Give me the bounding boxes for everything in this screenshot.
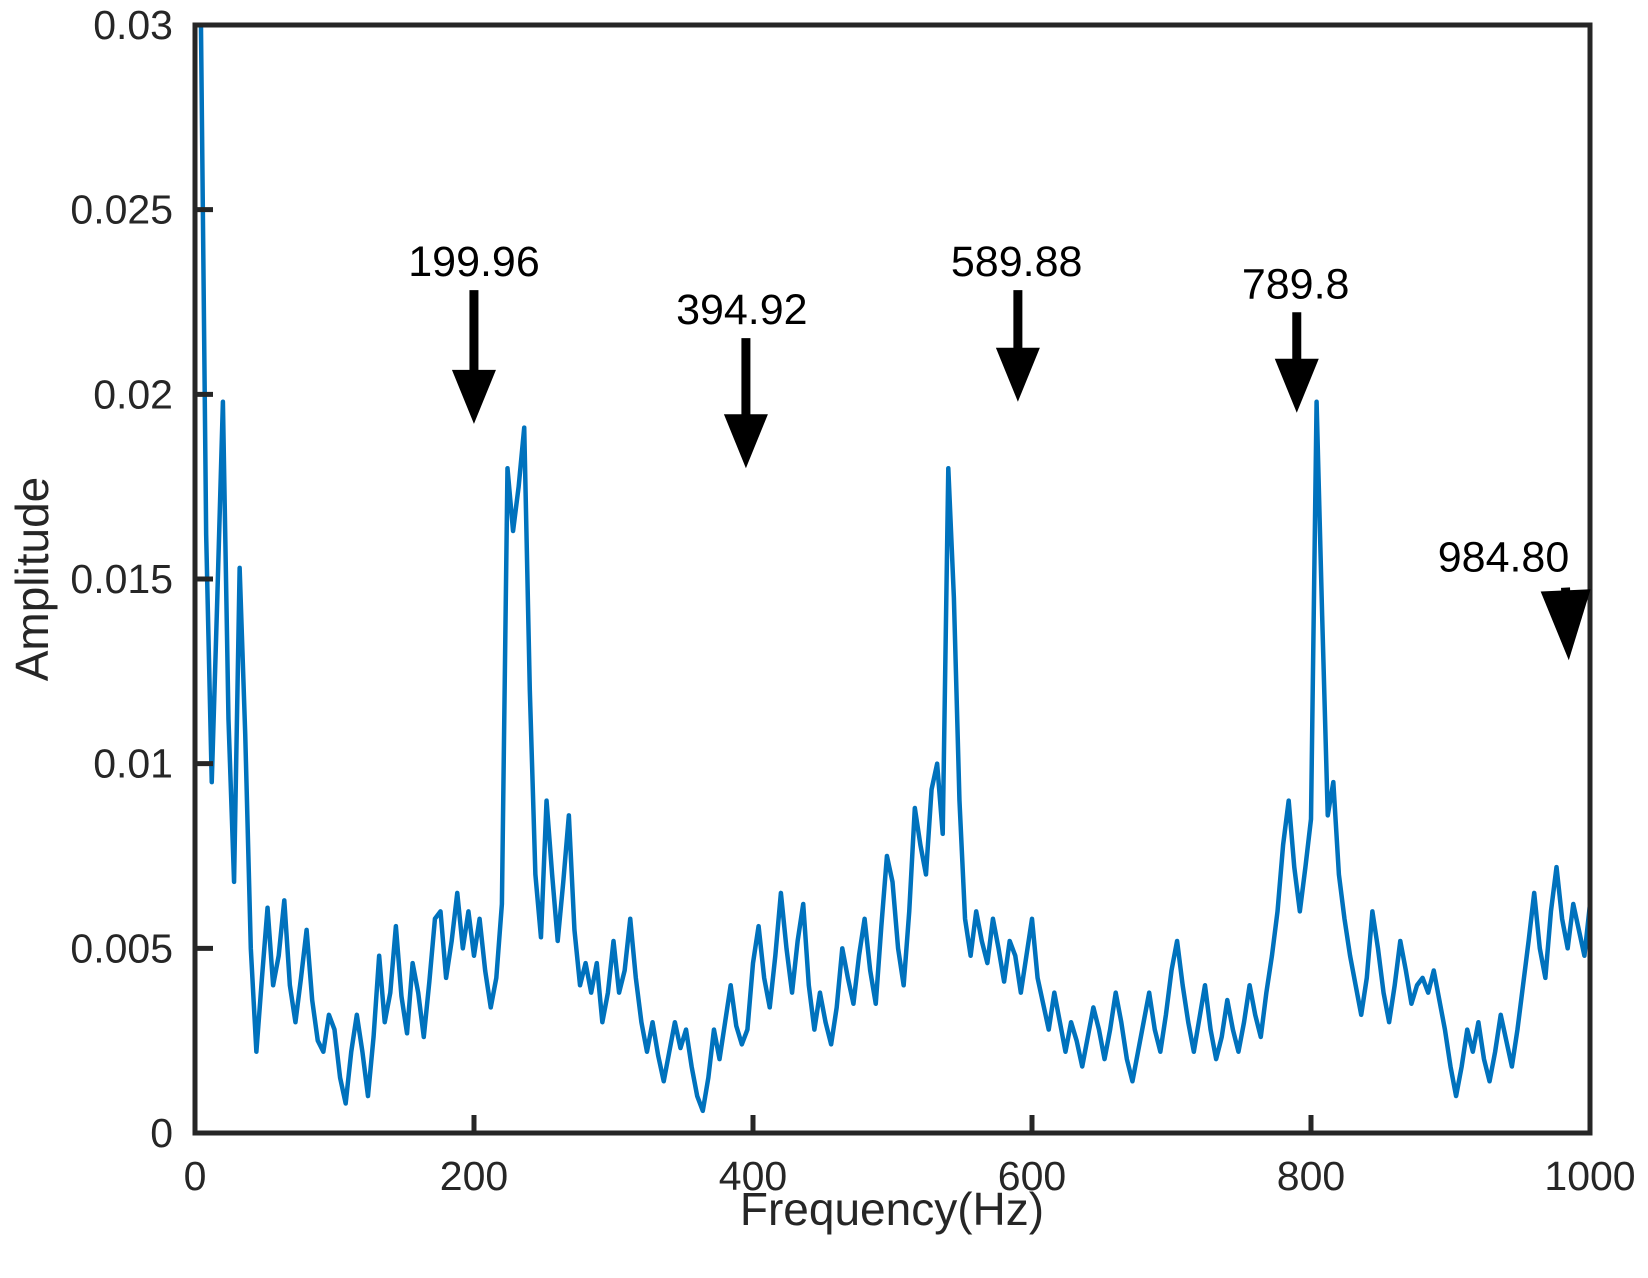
x-tick-label-0: 0 bbox=[184, 1153, 207, 1199]
x-tick-label-800: 800 bbox=[1277, 1153, 1345, 1199]
y-axis-title: Amplitude bbox=[6, 477, 58, 682]
y-tick-label-0.01: 0.01 bbox=[93, 741, 173, 787]
y-tick-label-0.02: 0.02 bbox=[93, 371, 173, 417]
annotation-label-199.96: 199.96 bbox=[408, 238, 540, 286]
x-tick-label-200: 200 bbox=[440, 1153, 508, 1199]
annotation-label-984.80: 984.80 bbox=[1438, 534, 1570, 582]
y-tick-label-0.025: 0.025 bbox=[70, 187, 173, 233]
y-tick-label-0.015: 0.015 bbox=[70, 556, 173, 602]
frequency-spectrum-chart: 02004006008001000 00.0050.010.0150.020.0… bbox=[0, 0, 1648, 1278]
y-axis-tick-labels: 00.0050.010.0150.020.0250.03 bbox=[70, 2, 173, 1156]
annotation-label-789.8: 789.8 bbox=[1242, 260, 1350, 308]
y-tick-label-0.005: 0.005 bbox=[70, 925, 173, 971]
y-tick-label-0.03: 0.03 bbox=[93, 2, 173, 48]
figure-container: 02004006008001000 00.0050.010.0150.020.0… bbox=[0, 0, 1648, 1278]
annotation-label-589.88: 589.88 bbox=[951, 238, 1083, 286]
x-tick-label-1000: 1000 bbox=[1544, 1153, 1635, 1199]
x-axis-title: Frequency(Hz) bbox=[740, 1183, 1044, 1235]
annotation-label-394.92: 394.92 bbox=[676, 286, 808, 334]
y-tick-label-0: 0 bbox=[150, 1110, 173, 1156]
